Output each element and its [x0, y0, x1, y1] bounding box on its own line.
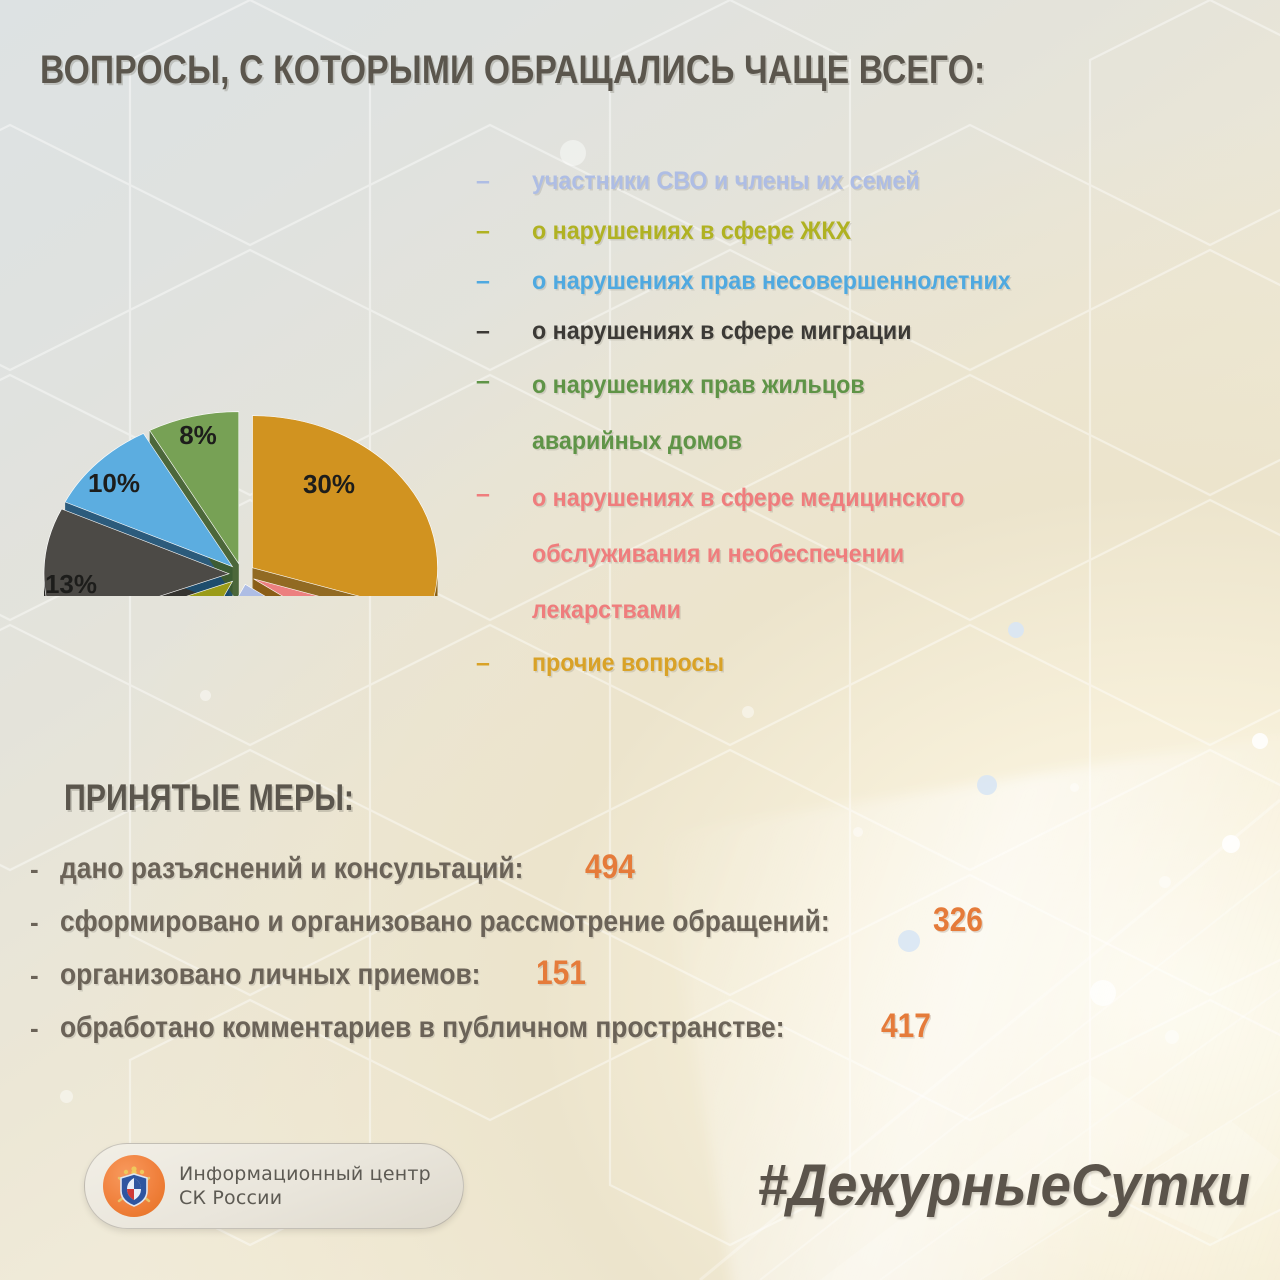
measure-row: - обработано комментариев в публичном пр… — [30, 1007, 1230, 1046]
legend-dash-icon: – — [468, 157, 532, 206]
measure-bullet-icon: - — [30, 909, 60, 935]
measures-list: - дано разъяснений и консультаций: 494 -… — [30, 848, 1230, 1060]
pie-data-label: 8% — [179, 420, 217, 450]
legend-item-label: о нарушениях в сфере ЖКХ — [532, 207, 851, 256]
measure-label: организовано личных приемов: — [60, 958, 480, 992]
legend-dash-icon: – — [468, 639, 532, 688]
measure-label: обработано комментариев в публичном прос… — [60, 1011, 785, 1045]
legend-item[interactable]: – о нарушениях в сфере медицинского обсл… — [468, 470, 1258, 638]
pie-data-label: 30% — [303, 469, 355, 499]
legend-dash-icon: – — [468, 207, 532, 256]
legend-item[interactable]: – о нарушениях в сфере ЖКХ — [468, 207, 1258, 256]
measure-bullet-icon: - — [30, 962, 60, 988]
pie-data-label: 13% — [45, 569, 97, 596]
measure-value: 151 — [536, 954, 586, 993]
legend-item[interactable]: – о нарушениях в сфере миграции — [468, 307, 1258, 356]
measures-heading: ПРИНЯТЫЕ МЕРЫ: — [64, 777, 354, 819]
measure-value: 326 — [933, 901, 983, 940]
legend-item-label: о нарушениях прав несовершеннолетних — [532, 257, 1011, 306]
bokeh-dot — [853, 827, 863, 837]
bokeh-dot — [60, 1090, 73, 1103]
pie-chart: 30%5%22%12%13%10%8% — [24, 196, 464, 596]
measure-bullet-icon: - — [30, 1015, 60, 1041]
measure-bullet-icon: - — [30, 856, 60, 882]
legend-item-label: о нарушениях в сфере миграции — [532, 307, 911, 356]
legend-item[interactable]: – прочие вопросы — [468, 639, 1258, 688]
sk-rossii-emblem-icon — [103, 1155, 165, 1217]
page-title: ВОПРОСЫ, С КОТОРЫМИ ОБРАЩАЛИСЬ ЧАЩЕ ВСЕГ… — [40, 48, 985, 93]
legend-item[interactable]: – о нарушениях прав несовершеннолетних — [468, 257, 1258, 306]
chart-legend: – участники СВО и члены их семей – о нар… — [468, 157, 1258, 689]
pie-chart-svg: 30%5%22%12%13%10%8% — [24, 196, 464, 596]
infographic-canvas: ВОПРОСЫ, С КОТОРЫМИ ОБРАЩАЛИСЬ ЧАЩЕ ВСЕГ… — [0, 0, 1280, 1280]
measure-label: дано разъяснений и консультаций: — [60, 852, 523, 886]
badge-line-2: СК России — [179, 1186, 431, 1210]
legend-dash-icon: – — [468, 357, 532, 406]
badge-line-1: Информационный центр — [179, 1162, 431, 1186]
bokeh-dot — [1070, 783, 1079, 792]
legend-dash-icon: – — [468, 257, 532, 306]
legend-dash-icon: – — [468, 307, 532, 356]
measure-value: 417 — [881, 1007, 931, 1046]
legend-item-label: прочие вопросы — [532, 639, 724, 688]
measure-value: 494 — [585, 848, 635, 887]
legend-item-label: участники СВО и члены их семей — [532, 157, 920, 206]
legend-item-label: о нарушениях прав жильцов аварийных домо… — [532, 357, 865, 469]
bokeh-dot — [742, 706, 754, 718]
measure-row: - дано разъяснений и консультаций: 494 — [30, 848, 1230, 887]
pie-data-label: 10% — [88, 468, 140, 498]
measure-row: - сформировано и организовано рассмотрен… — [30, 901, 1230, 940]
legend-item-label: о нарушениях в сфере медицинского обслуж… — [532, 470, 964, 638]
measure-label: сформировано и организовано рассмотрение… — [60, 905, 830, 939]
bokeh-dot — [977, 775, 997, 795]
legend-dash-icon: – — [468, 470, 532, 519]
hashtag: #ДежурныеСутки — [757, 1152, 1250, 1219]
badge-text: Информационный центр СК России — [179, 1162, 431, 1211]
bokeh-dot — [200, 690, 211, 701]
legend-item[interactable]: – о нарушениях прав жильцов аварийных до… — [468, 357, 1258, 469]
organization-badge[interactable]: Информационный центр СК России — [84, 1143, 464, 1229]
emblem-svg — [110, 1162, 158, 1210]
measure-row: - организовано личных приемов: 151 — [30, 954, 1230, 993]
pie-slice[interactable] — [253, 416, 438, 596]
bokeh-dot — [1252, 733, 1268, 749]
legend-item[interactable]: – участники СВО и члены их семей — [468, 157, 1258, 206]
